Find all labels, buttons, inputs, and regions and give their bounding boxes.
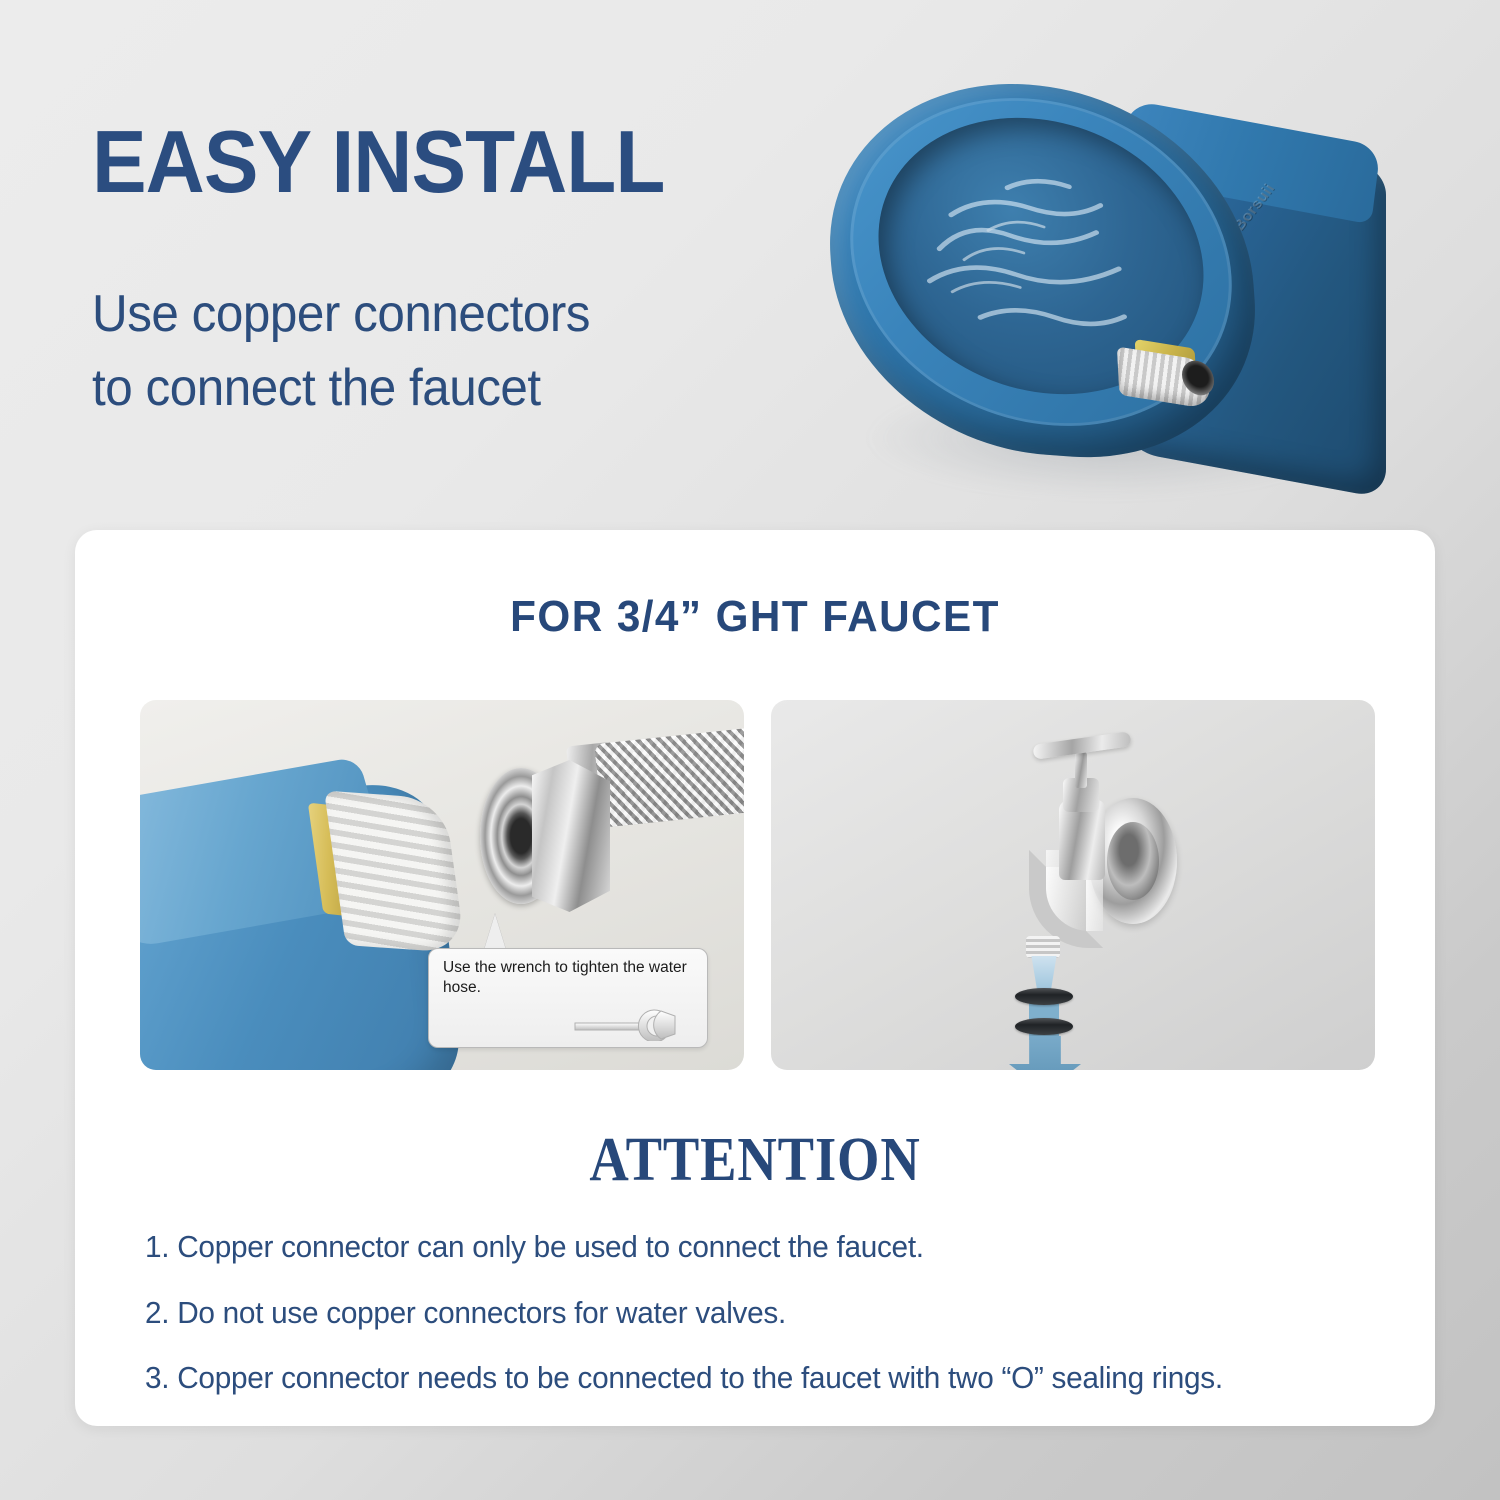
white-threaded-outlet: [324, 791, 466, 954]
page-title: EASY INSTALL: [92, 118, 664, 206]
list-item: 2. Do not use copper connectors for wate…: [145, 1296, 1383, 1331]
attention-list: 1. Copper connector can only be used to …: [145, 1230, 1435, 1427]
faucet-oring-assembly-photo: [771, 700, 1375, 1070]
instruction-card: FOR 3/4” GHT FAUCET Use the wrench to ti…: [75, 530, 1435, 1426]
list-item: 1. Copper connector can only be used to …: [145, 1230, 1383, 1265]
subtitle-line-1: Use copper connectors: [92, 278, 590, 352]
faucet-stem: [1075, 752, 1087, 788]
faucet-body: [1059, 800, 1105, 880]
page-subtitle: Use copper connectors to connect the fau…: [92, 278, 590, 426]
chrome-hose-nut: [480, 760, 620, 910]
assembly-direction-arrow: [1009, 1036, 1081, 1070]
assembly-guide-cone: [1029, 956, 1059, 992]
callout-text: Use the wrench to tighten the water hose…: [443, 958, 695, 998]
o-ring-lower: [1015, 1018, 1073, 1035]
wrench-callout-bubble: Use the wrench to tighten the water hose…: [428, 948, 708, 1048]
faucet-wall-flange-inner: [1107, 822, 1159, 900]
subtitle-line-2: to connect the faucet: [92, 352, 590, 426]
attention-heading: ATTENTION: [157, 1125, 1354, 1196]
hose-nut-hex: [532, 760, 610, 912]
card-title: FOR 3/4” GHT FAUCET: [102, 592, 1408, 642]
list-item: 3. Copper connector needs to be connecte…: [145, 1361, 1383, 1396]
photo-row: Use the wrench to tighten the water hose…: [140, 700, 1375, 1070]
product-hero-image: Borsuii: [818, 48, 1418, 528]
faucet-spout-threads: [1026, 936, 1060, 958]
callout-tail: [484, 914, 506, 950]
o-ring-upper: [1015, 988, 1073, 1005]
waterer-hose-connection-photo: Use the wrench to tighten the water hose…: [140, 700, 744, 1070]
hero-section: EASY INSTALL Use copper connectors to co…: [0, 0, 1500, 520]
wrench-icon: [573, 1007, 691, 1041]
